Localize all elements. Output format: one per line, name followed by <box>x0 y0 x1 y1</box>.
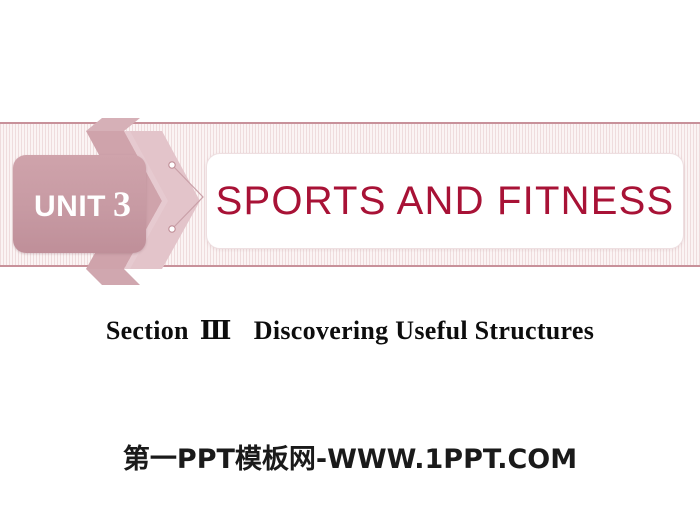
unit-badge-content: UNIT 3 <box>34 186 131 222</box>
title-plate: SPORTS AND FITNESS <box>206 153 684 249</box>
subtitle: SectionⅢDiscovering Useful Structures <box>0 316 700 346</box>
presentation-slide: UNIT 3 SPORTS AND FITNESS SectionⅢDiscov… <box>0 0 700 525</box>
page-title: SPORTS AND FITNESS <box>216 181 675 221</box>
unit-badge: UNIT 3 <box>13 155 146 253</box>
unit-label: UNIT <box>34 192 106 222</box>
subtitle-topic: Discovering Useful Structures <box>254 316 594 345</box>
subtitle-section-number: Ⅲ <box>200 316 232 346</box>
watermark-text: 第一PPT模板网-WWW.1PPT.COM <box>0 437 700 476</box>
subtitle-section-word: Section <box>106 316 189 345</box>
unit-number: 3 <box>113 186 131 222</box>
